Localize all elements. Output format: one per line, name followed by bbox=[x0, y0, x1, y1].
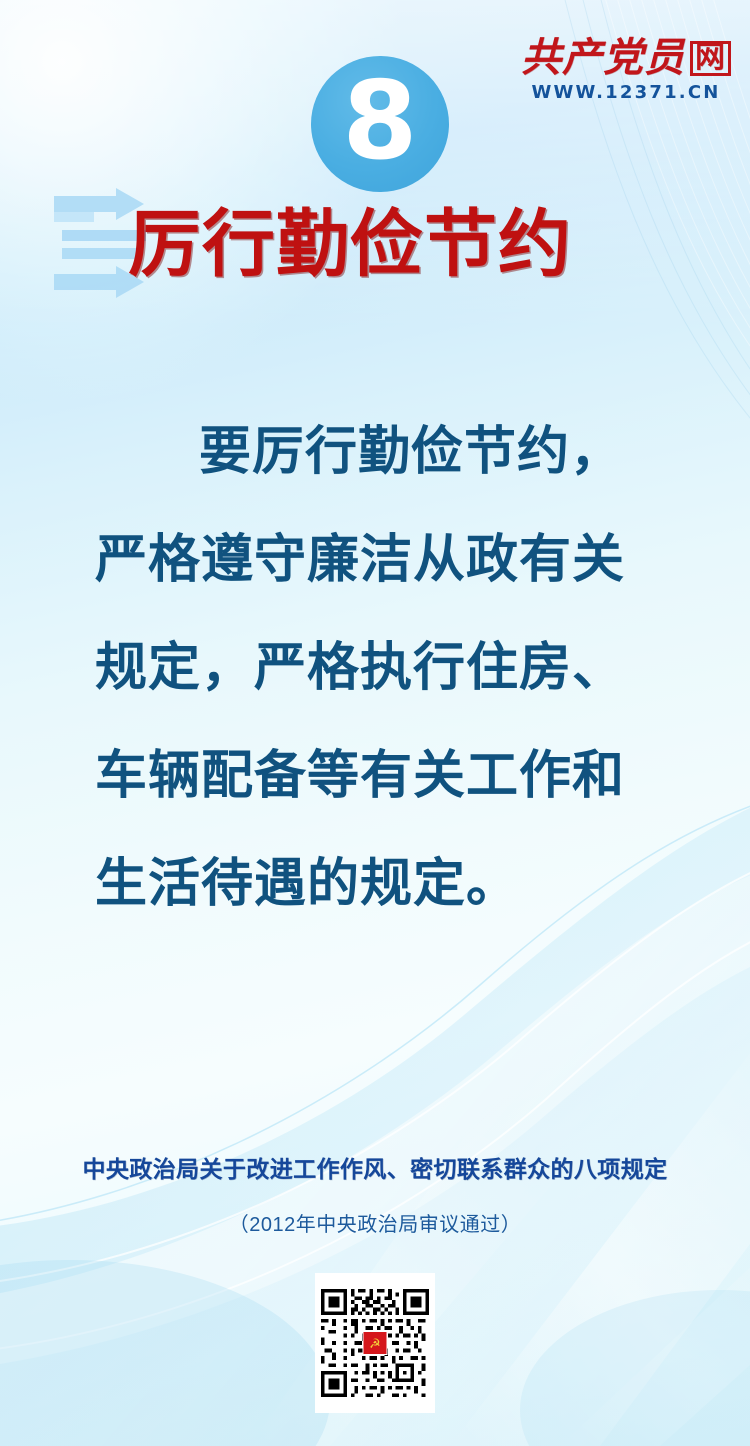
logo-brand-boxed: 网 bbox=[690, 41, 731, 77]
footer-subtitle: （2012年中央政治局审议通过） bbox=[0, 1208, 750, 1237]
body-line-5: 生活待遇的规定。 bbox=[95, 830, 670, 938]
body-line-4: 车辆配备等有关工作和 bbox=[95, 722, 670, 830]
body-line-3: 规定，严格执行住房、 bbox=[95, 614, 670, 722]
poster-root: 共产党员 网 WWW.12371.CN 8 厉行勤俭节约 要厉行勤俭节约， 严格… bbox=[0, 0, 750, 1446]
section-number-badge: 8 bbox=[311, 56, 449, 192]
logo-brand-script: 共产党员 bbox=[521, 38, 685, 78]
body-line-1: 要厉行勤俭节约， bbox=[95, 398, 670, 506]
qr-code-canvas: ☭ bbox=[321, 1279, 429, 1407]
party-emblem-icon: ☭ bbox=[363, 1331, 388, 1355]
footer-title: 中央政治局关于改进工作作风、密切联系群众的八项规定 bbox=[0, 1150, 750, 1184]
logo-brand: 共产党员 网 bbox=[520, 38, 732, 78]
section-number: 8 bbox=[342, 68, 417, 176]
body-line-2: 严格遵守廉洁从政有关 bbox=[95, 506, 670, 614]
body-text: 要厉行勤俭节约， 严格遵守廉洁从政有关 规定，严格执行住房、 车辆配备等有关工作… bbox=[95, 398, 670, 938]
qr-code[interactable]: ☭ bbox=[315, 1273, 435, 1413]
page-title: 厉行勤俭节约 bbox=[128, 208, 572, 281]
hammer-sickle-glyph: ☭ bbox=[369, 1337, 381, 1350]
logo-url: WWW.12371.CN bbox=[520, 84, 732, 102]
site-logo[interactable]: 共产党员 网 WWW.12371.CN bbox=[520, 38, 732, 102]
